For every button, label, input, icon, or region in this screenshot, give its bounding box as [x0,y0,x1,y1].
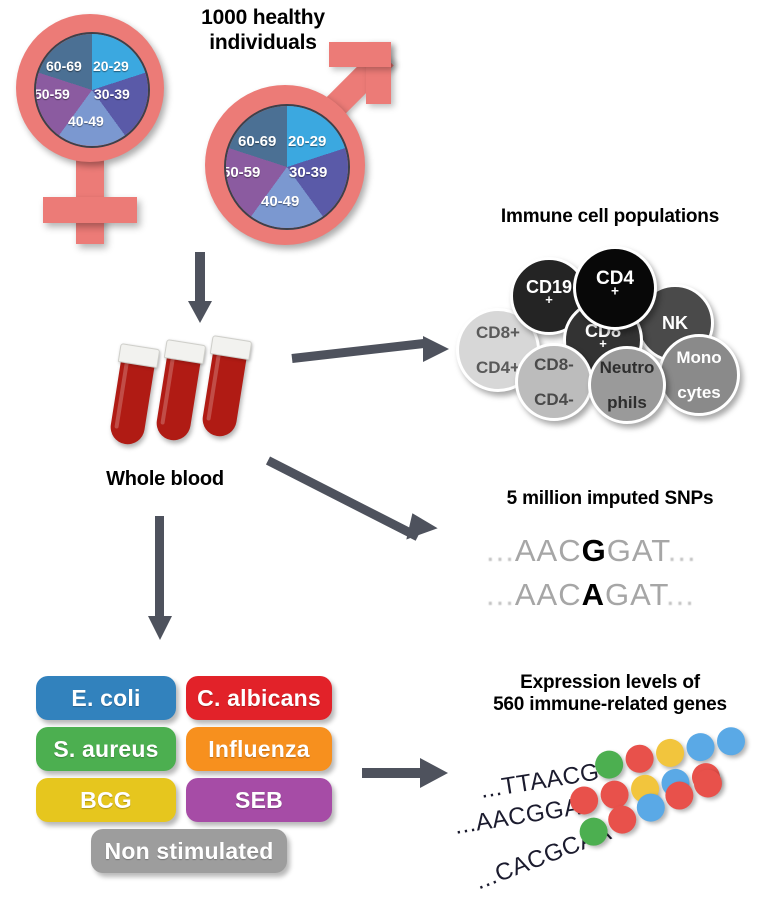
blood-tube-gloss [114,357,129,429]
pie-label-30-39: 30-39 [94,86,130,102]
stimulation-label: C. albicans [197,685,321,712]
stimulation-chip-seb[interactable]: SEB [186,778,332,822]
pie-label-50-59: 50-59 [224,164,260,181]
expression-bead [685,731,717,763]
snp-variant-base: A [582,577,605,612]
immune-cell-label: Neutro phils [600,359,655,411]
whole-blood-tubes [100,330,260,460]
snp-left-bases: AAC [515,533,582,568]
immune-cell-neutrophils: Neutro phils [588,346,666,424]
pie-label-30-39: 30-39 [289,164,327,181]
pie-label-60-69: 60-69 [238,133,276,150]
snp-prefix: ... [486,533,515,568]
pie-label-20-29: 20-29 [288,133,326,150]
immune-cell-populations-title: Immune cell populations [455,206,765,228]
arrow-head [148,616,172,640]
immune-cell-label: CD8- CD4- [534,356,574,408]
snp-right-bases: GAT [605,577,666,612]
pie-label-40-49: 40-49 [68,113,104,129]
arrow-head [188,301,212,323]
stimulation-label: Influenza [208,736,309,763]
blood-tube [108,345,157,447]
stimulation-chip-bcg[interactable]: BCG [36,778,176,822]
arrow-cohort-to-blood [185,252,215,324]
stimulation-label: BCG [80,787,132,814]
arrow-blood-to-snps [268,448,453,553]
immune-cell-cd8minus-cd4minus: CD8- CD4- [515,343,593,421]
stimulation-chip-c-albicans[interactable]: C. albicans [186,676,332,720]
pie-label-50-59: 50-59 [34,86,70,102]
stimulation-chip-e-coli[interactable]: E. coli [36,676,176,720]
immune-cell-monocytes: Mono cytes [658,334,740,416]
snp-suffix: ... [668,533,697,568]
immune-cell-label: NK [662,314,688,332]
arrow-head [423,336,449,362]
blood-tube [154,341,203,443]
stimulation-label: S. aureus [53,736,158,763]
male-age-pie-chart: 20-29 30-39 40-49 50-59 60-69 [224,104,350,230]
snp-right-bases: GAT [607,533,668,568]
immune-cell-label: Mono cytes [676,349,721,401]
stimulation-chip-influenza[interactable]: Influenza [186,727,332,771]
blood-tube-gloss [206,349,221,421]
male-symbol-arrowhead-horizontal [329,42,391,67]
whole-blood-label: Whole blood [70,468,260,492]
arrow-blood-to-immune-cells [292,330,457,380]
female-age-pie-chart: 20-29 30-39 40-49 50-59 60-69 [34,32,150,148]
snp-variant-base: G [582,533,607,568]
stimulation-label: Non stimulated [105,838,274,865]
female-symbol-cross [43,197,137,223]
arrow-head [406,513,439,546]
expression-bead [654,737,686,769]
figure-canvas: 1000 healthyindividuals 20-29 30-39 40-4… [0,0,771,922]
expression-bead [715,725,747,757]
stimulation-label: SEB [235,787,283,814]
arrow-shaft [155,516,164,620]
expression-bead [624,743,656,775]
arrow-shaft [291,339,427,363]
snp-allele-row: ...AACAGAT... [486,577,695,613]
blood-tube [200,337,249,439]
stimulation-label: E. coli [71,685,140,712]
immune-cell-label: CD19+ [526,278,572,315]
arrow-shaft [266,456,420,540]
pie-label-60-69: 60-69 [46,58,82,74]
immune-cell-label: CD4+ [596,269,634,308]
arrow-shaft [195,252,205,304]
blood-tube-gloss [160,353,175,425]
expression-title: Expression levels of560 immune-related g… [450,672,770,717]
snp-left-bases: AAC [515,577,582,612]
male-gender-symbol: 20-29 30-39 40-49 50-59 60-69 [205,60,420,250]
arrow-shaft [362,768,424,778]
snp-allele-row: ...AACGGAT... [486,533,697,569]
arrow-head [420,758,448,788]
immune-cell-label: CD8+ CD4+ [476,324,520,376]
pie-label-20-29: 20-29 [93,58,129,74]
pie-label-40-49: 40-49 [261,193,299,210]
stimulation-chip-non-stimulated[interactable]: Non stimulated [91,829,287,873]
stimulation-chip-s-aureus[interactable]: S. aureus [36,727,176,771]
stimulation-panel: E. coli C. albicans S. aureus Influenza … [36,676,336,896]
immune-cell-bubble-cluster: NK CD8+ CD4+ CD19+ CD8+ CD4+ Mono [455,240,771,415]
snp-suffix: ... [666,577,695,612]
snp-sequence-block: ...AACGGAT... ...AACAGAT... [486,533,746,623]
expression-strand-group: ...TTAACGG ...AACGGAT ...CACGCAA [455,735,771,915]
female-gender-symbol: 20-29 30-39 40-49 50-59 60-69 [8,14,188,234]
immune-cell-cd4plus: CD4+ [573,246,657,330]
snp-prefix: ... [486,577,515,612]
snp-title: 5 million imputed SNPs [455,488,765,510]
arrow-blood-to-stimulations [145,516,175,646]
